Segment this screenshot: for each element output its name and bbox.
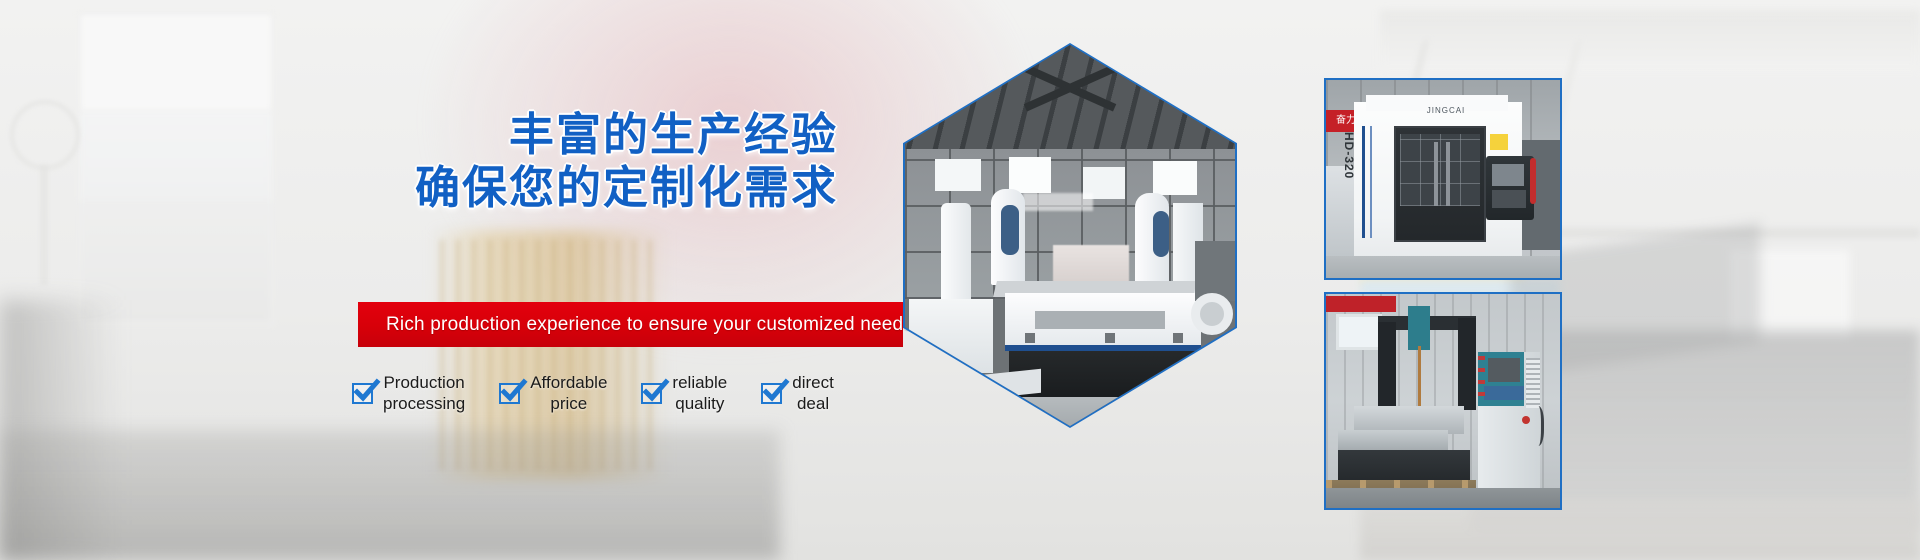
thumb1-model-label: HD-320	[1342, 132, 1356, 198]
hero-machine-foot	[1025, 333, 1035, 343]
thumb2-window	[1336, 314, 1382, 350]
checkbox-checked-icon	[761, 383, 782, 404]
thumb1-brand-label: JINGCAI	[1418, 106, 1474, 116]
feature-label: Production processing	[383, 372, 465, 414]
thumb1-red-accent	[1530, 158, 1536, 204]
hexagon-photo-content	[905, 45, 1235, 426]
thumb2-gantry-column	[1378, 322, 1396, 408]
copy-block: 丰富的生产经验 确保您的定制化需求 Rich production experi…	[0, 0, 900, 560]
thumbnail-hd-320[interactable]: 奋力 JINGCAI HD-320	[1324, 78, 1562, 280]
checkbox-checked-icon	[641, 383, 662, 404]
thumbnail-edm-machine[interactable]	[1324, 292, 1562, 510]
thumb2-cabinet-screen	[1488, 358, 1520, 382]
hero-machine-slot	[1035, 311, 1165, 329]
feature-label: Affordable price	[530, 372, 607, 414]
headline-line-2: 确保您的定制化需求	[0, 161, 838, 214]
thumb2-cabinet-buttons	[1478, 356, 1485, 404]
hero-wall-sign	[1023, 193, 1093, 211]
hero-floor	[905, 397, 1235, 426]
thumb2-cutting-head	[1408, 306, 1430, 350]
hero-machine-window	[1001, 205, 1019, 255]
hero-green-button	[923, 361, 931, 369]
feature-item-affordable-price[interactable]: Affordable price	[499, 372, 607, 414]
thumb1-door-handle	[1434, 142, 1438, 206]
thumb2-cabinet-vent	[1526, 358, 1540, 408]
thumb1-accent-stripe	[1370, 126, 1372, 238]
hero-machine-foot	[1173, 333, 1183, 343]
checkbox-checked-icon	[352, 383, 373, 404]
hero-window	[935, 159, 981, 191]
thumb2-cabinet-panel	[1484, 386, 1524, 400]
checkbox-checked-icon	[499, 383, 520, 404]
thumb1-accent-stripe	[1362, 126, 1365, 238]
hero-window	[1009, 157, 1051, 193]
hero-side-machine	[909, 299, 993, 373]
thumb1-door-window	[1400, 134, 1480, 206]
headline-line-1: 丰富的生产经验	[509, 108, 838, 161]
thumb1-control-screen	[1492, 164, 1524, 186]
headline: 丰富的生产经验 确保您的定制化需求	[0, 108, 838, 214]
feature-list: Production processing Affordable price r…	[352, 372, 834, 414]
hero-ceiling	[905, 45, 1235, 157]
hero-photo-hexagon[interactable]	[903, 43, 1237, 428]
hero-machine-foot	[1105, 333, 1115, 343]
thumb1-floor	[1326, 256, 1560, 278]
thumb2-emergency-stop-button	[1522, 416, 1530, 424]
feature-item-production-processing[interactable]: Production processing	[352, 372, 465, 414]
thumb1-warning-label	[1490, 134, 1508, 150]
subtitle-bar: Rich production experience to ensure you…	[358, 302, 903, 347]
thumb2-machine-base	[1338, 450, 1470, 484]
thumb2-floor	[1326, 488, 1560, 508]
hero-window	[1153, 161, 1197, 195]
thumb2-wall-banner	[1326, 296, 1396, 312]
feature-label: reliable quality	[672, 372, 727, 414]
thumb2-gantry-column	[1458, 318, 1476, 410]
feature-label: direct deal	[792, 372, 834, 414]
subtitle-text: Rich production experience to ensure you…	[358, 314, 913, 336]
hero-right-equipment	[1195, 241, 1235, 301]
hero-machine-window	[1153, 211, 1169, 257]
thumb1-door-handle	[1446, 142, 1450, 206]
feature-item-reliable-quality[interactable]: reliable quality	[641, 372, 727, 414]
promo-banner: 丰富的生产经验 确保您的定制化需求 Rich production experi…	[0, 0, 1920, 560]
feature-item-direct-deal[interactable]: direct deal	[761, 372, 834, 414]
thumb1-control-keypad	[1492, 190, 1526, 208]
hero-red-button	[941, 361, 949, 369]
thumb2-cable	[1530, 406, 1544, 446]
hero-coil-spool	[1191, 293, 1233, 335]
